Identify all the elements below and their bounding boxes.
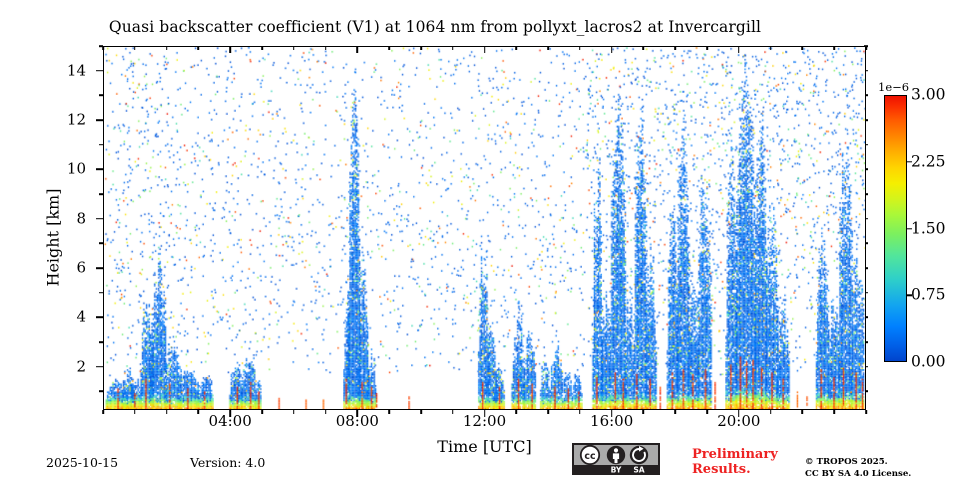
y-tick-label-4: 4 [76, 310, 86, 325]
x-minor-tick-mark [166, 410, 168, 414]
x-minor-tick-mark [865, 410, 867, 414]
x-minor-tick-mark [802, 46, 804, 50]
y-tick-mark [96, 267, 103, 269]
copyright-notice: © TROPOS 2025. CC BY SA 4.0 License. [805, 456, 911, 481]
page-title: Quasi backscatter coefficient (V1) at 10… [0, 18, 870, 36]
y-tick-label-10: 10 [67, 162, 86, 177]
footer-date: 2025-10-15 [46, 455, 118, 470]
x-minor-tick-mark [293, 46, 295, 50]
badge-by-label: BY [611, 466, 622, 475]
footer-version: Version: 4.0 [190, 455, 265, 470]
x-minor-tick-mark [420, 46, 422, 50]
y-tick-label-6: 6 [76, 261, 86, 276]
x-minor-tick-mark [293, 410, 295, 414]
x-minor-tick-mark [325, 410, 327, 414]
colorbar-exponent: 1e−6 [878, 80, 909, 94]
colorbar[interactable] [884, 95, 907, 362]
y-tick-label-2: 2 [76, 359, 86, 374]
x-minor-tick-mark [547, 46, 549, 50]
x-minor-tick-mark [452, 410, 454, 414]
cc-by-sa-license-badge[interactable]: cc BY SA [572, 443, 660, 475]
svg-text:cc: cc [584, 451, 595, 462]
x-minor-tick-mark [865, 46, 867, 50]
colorbar-tick-label-3.00: 3.00 [911, 87, 946, 103]
colorbar-tick-mark [907, 161, 912, 162]
x-tick-mark [611, 46, 613, 53]
x-minor-tick-mark [833, 410, 835, 414]
y-axis-label: Height [km] [44, 138, 63, 338]
x-minor-tick-mark [166, 46, 168, 50]
x-tick-mark [484, 46, 486, 53]
preliminary-line-2: Results. [692, 463, 778, 478]
x-tick-mark [611, 410, 613, 417]
y-tick-mark [96, 218, 103, 220]
lidar-quicklook-figure: Quasi backscatter coefficient (V1) at 10… [0, 0, 960, 480]
colorbar-tick-mark [907, 295, 912, 296]
x-minor-tick-mark [802, 410, 804, 414]
copyright-line-1: © TROPOS 2025. [805, 456, 911, 468]
x-minor-tick-mark [134, 46, 136, 50]
heatmap-canvas [104, 47, 865, 409]
x-minor-tick-mark [261, 410, 263, 414]
x-minor-tick-mark [515, 410, 517, 414]
x-tick-mark [229, 410, 231, 417]
x-tick-mark [738, 46, 740, 53]
colorbar-tick-mark [907, 228, 912, 229]
x-minor-tick-mark [579, 410, 581, 414]
x-minor-tick-mark [643, 410, 645, 414]
sa-share-alike-icon [630, 446, 648, 464]
x-minor-tick-mark [706, 46, 708, 50]
by-person-icon [607, 446, 625, 464]
colorbar-tick-label-0.75: 0.75 [911, 288, 946, 304]
x-tick-mark [229, 46, 231, 53]
colorbar-tick-label-1.50: 1.50 [911, 221, 946, 237]
preliminary-line-1: Preliminary [692, 448, 778, 463]
colorbar-tick-label-0.00: 0.00 [911, 354, 946, 370]
cc-icon: cc [581, 446, 599, 464]
x-minor-tick-mark [452, 46, 454, 50]
y-tick-mark [96, 119, 103, 121]
x-minor-tick-mark [388, 410, 390, 414]
x-minor-tick-mark [674, 410, 676, 414]
x-minor-tick-mark [388, 46, 390, 50]
x-minor-tick-mark [547, 410, 549, 414]
x-minor-tick-mark [134, 410, 136, 414]
x-tick-mark [357, 410, 359, 417]
x-minor-tick-mark [833, 46, 835, 50]
x-minor-tick-mark [420, 410, 422, 414]
x-minor-tick-mark [643, 46, 645, 50]
y-tick-label-14: 14 [67, 63, 86, 78]
x-minor-tick-mark [770, 410, 772, 414]
x-minor-tick-mark [102, 46, 104, 50]
x-minor-tick-mark [198, 46, 200, 50]
x-minor-tick-mark [770, 46, 772, 50]
x-minor-tick-mark [674, 46, 676, 50]
x-minor-tick-mark [261, 46, 263, 50]
y-tick-mark [96, 366, 103, 368]
x-minor-tick-mark [102, 410, 104, 414]
colorbar-tick-label-2.25: 2.25 [911, 154, 946, 170]
x-tick-mark [738, 410, 740, 417]
x-minor-tick-mark [515, 46, 517, 50]
y-tick-mark [96, 70, 103, 72]
plot-area[interactable] [103, 46, 866, 410]
x-tick-mark [484, 410, 486, 417]
copyright-line-2: CC BY SA 4.0 License. [805, 468, 911, 480]
x-minor-tick-mark [198, 410, 200, 414]
x-minor-tick-mark [579, 46, 581, 50]
x-tick-mark [357, 46, 359, 53]
y-tick-label-12: 12 [67, 113, 86, 128]
y-tick-mark [96, 169, 103, 171]
y-tick-mark [96, 317, 103, 319]
y-tick-label-8: 8 [76, 211, 86, 226]
x-minor-tick-mark [706, 410, 708, 414]
badge-sa-label: SA [633, 466, 644, 475]
x-minor-tick-mark [325, 46, 327, 50]
preliminary-results-notice: Preliminary Results. [692, 448, 778, 478]
